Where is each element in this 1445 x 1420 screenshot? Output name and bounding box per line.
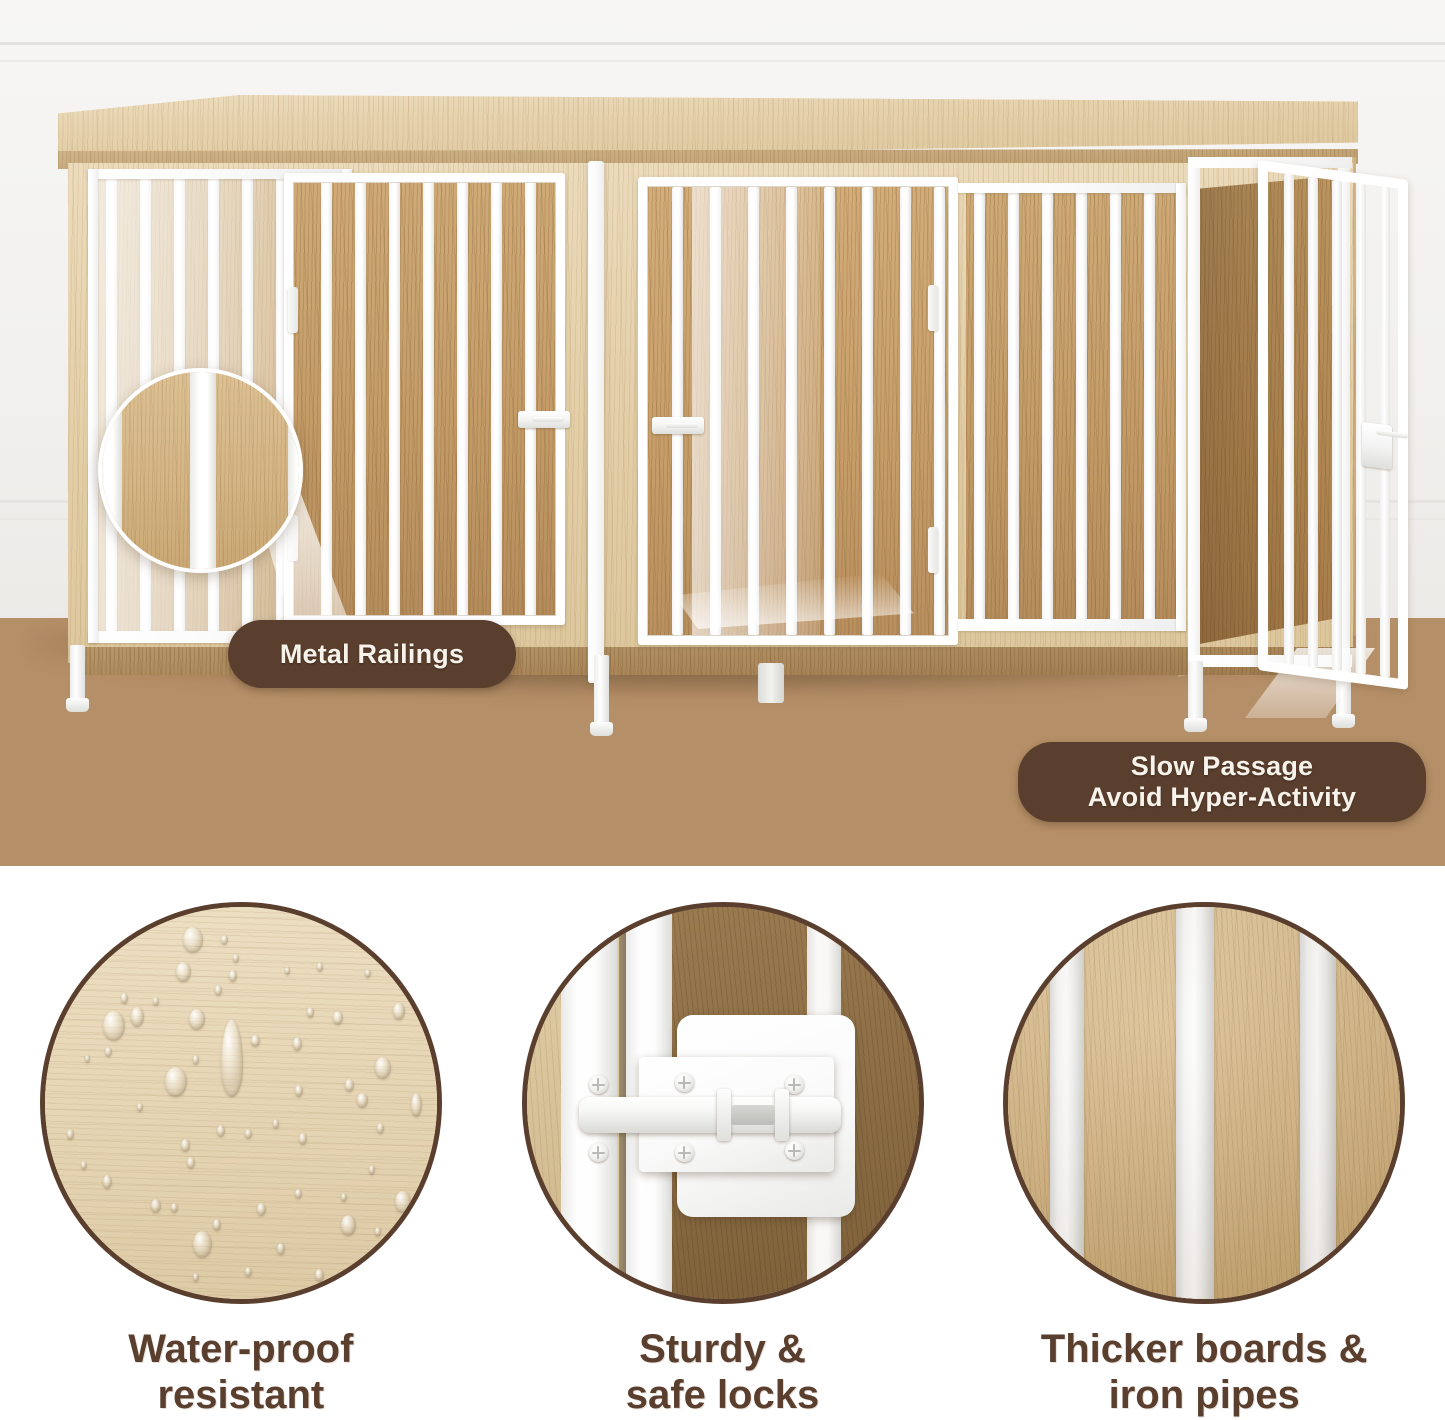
product-photo-scene: Metal Railings Slow Passage Avoid Hyper-… xyxy=(0,0,1445,866)
feature-thicker-boards: Thicker boards & iron pipes xyxy=(963,866,1445,1420)
right-panel-frame-bottom xyxy=(958,619,1186,631)
right-panel-frame-right xyxy=(1176,183,1186,631)
crate-center-foot xyxy=(758,663,784,703)
feature-thicker-boards-caption: Thicker boards & iron pipes xyxy=(1041,1326,1368,1419)
latch-screw xyxy=(675,1143,694,1162)
left-door-latch[interactable] xyxy=(518,411,570,428)
left-opening-frame-left xyxy=(88,169,98,643)
feature-safe-locks-caption: Sturdy & safe locks xyxy=(626,1326,819,1419)
badge-slow-passage: Slow Passage Avoid Hyper-Activity xyxy=(1018,742,1426,822)
left-crate-door[interactable] xyxy=(284,173,565,625)
right-door-latch[interactable] xyxy=(652,417,704,434)
caption-line-1: Thicker boards & xyxy=(1041,1326,1368,1372)
feature-highlights-row: Water-proof resistant xyxy=(0,866,1445,1420)
feature-water-proof-caption: Water-proof resistant xyxy=(128,1326,353,1419)
right-fixed-railing-panel xyxy=(966,191,1178,627)
right-door-hinge xyxy=(928,527,938,573)
slide-bolt-knob[interactable] xyxy=(717,1089,731,1141)
feature-water-proof: Water-proof resistant xyxy=(0,866,482,1420)
magnifier-circle xyxy=(98,368,303,573)
latch-screw xyxy=(589,1075,608,1094)
latch-screw xyxy=(589,1143,608,1162)
open-crate-door[interactable] xyxy=(1258,160,1408,690)
latch-screw xyxy=(785,1141,804,1160)
crate-leg xyxy=(594,655,609,727)
water-droplets-on-wood-icon xyxy=(40,902,442,1304)
badge-slow-passage-text: Slow Passage Avoid Hyper-Activity xyxy=(1088,751,1357,813)
slide-bolt-collar xyxy=(775,1089,789,1141)
caption-line-2: safe locks xyxy=(626,1372,819,1418)
open-compartment-frame-left xyxy=(1188,165,1200,665)
crate-leg xyxy=(1188,661,1203,723)
right-door-hinge xyxy=(928,285,938,331)
caption-line-1: Water-proof xyxy=(128,1326,353,1372)
crate-center-post xyxy=(588,161,604,683)
wall-molding-line xyxy=(0,60,1445,62)
caption-line-2: iron pipes xyxy=(1041,1372,1368,1418)
caption-line-2: resistant xyxy=(128,1372,353,1418)
feature-safe-locks: Sturdy & safe locks xyxy=(482,866,964,1420)
right-panel-frame-top xyxy=(958,183,1186,193)
right-crate-door[interactable] xyxy=(638,177,958,645)
caption-line-1: Sturdy & xyxy=(626,1326,819,1372)
latch-screw xyxy=(675,1073,694,1092)
slide-bolt-shaft xyxy=(731,1105,775,1125)
left-door-hinge xyxy=(288,287,298,333)
slide-bolt-rod[interactable] xyxy=(579,1097,841,1133)
crate-leg xyxy=(70,645,85,703)
wall-molding-line xyxy=(0,42,1445,45)
slide-bolt-latch-icon xyxy=(522,902,924,1304)
open-door-latch[interactable] xyxy=(1362,422,1392,470)
badge-metal-railings-label: Metal Railings xyxy=(280,639,464,670)
wood-boards-iron-pipes-icon xyxy=(1003,902,1405,1304)
badge-slow-passage-line1: Slow Passage xyxy=(1088,751,1357,782)
badge-metal-railings: Metal Railings xyxy=(228,620,516,688)
badge-slow-passage-line2: Avoid Hyper-Activity xyxy=(1088,782,1357,813)
